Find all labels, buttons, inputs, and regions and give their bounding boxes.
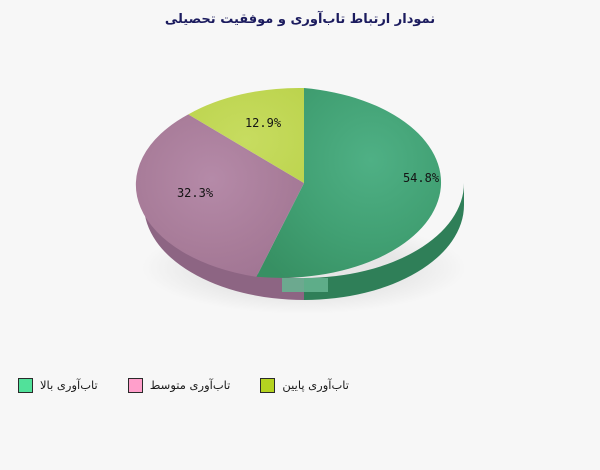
legend-label-medium: تاب‌آوری متوسط (150, 378, 231, 392)
slice-label-high: 54.8% (386, 171, 456, 185)
legend-swatch-high-icon (18, 378, 33, 393)
chart-legend: تاب‌آوری بالا تاب‌آوری متوسط تاب‌آوری پا… (18, 374, 582, 396)
plot-area: 54.8% 32.3% 12.9% (0, 60, 600, 360)
legend-swatch-low-icon (260, 378, 275, 393)
legend-label-high: تاب‌آوری بالا (40, 378, 98, 392)
legend-swatch-medium-icon (128, 378, 143, 393)
legend-item-low[interactable]: تاب‌آوری پایین (260, 375, 349, 395)
chart-title: نمودار ارتباط تاب‌آوری و موفقیت تحصیلی (0, 12, 600, 27)
slice-label-low: 12.9% (228, 116, 298, 130)
legend-item-medium[interactable]: تاب‌آوری متوسط (128, 375, 231, 395)
legend-label-low: تاب‌آوری پایین (282, 378, 349, 392)
pie-chart: 54.8% 32.3% 12.9% (138, 100, 468, 310)
pie-chart-svg (138, 100, 468, 310)
legend-item-high[interactable]: تاب‌آوری بالا (18, 375, 98, 395)
pie-rim-highlight (282, 278, 328, 292)
slice-label-medium: 32.3% (160, 186, 230, 200)
